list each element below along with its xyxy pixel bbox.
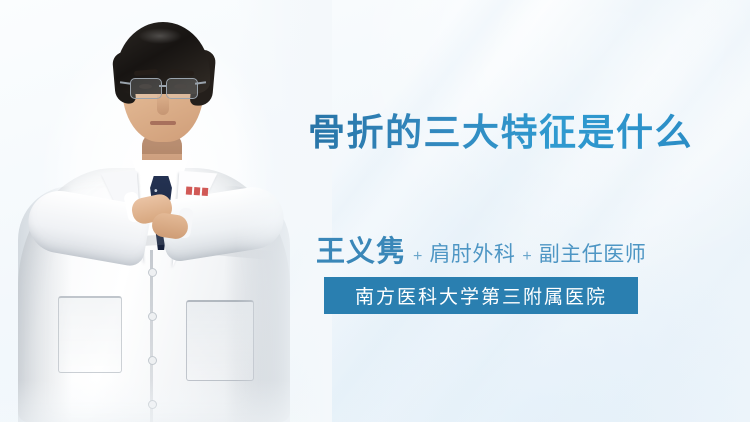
eyeglasses-lens-right xyxy=(166,78,198,99)
coat-button xyxy=(148,312,157,321)
doctor-portrait-photo xyxy=(0,0,320,422)
hair-highlight xyxy=(138,28,182,44)
eyeglasses-bridge xyxy=(159,85,167,87)
hospital-name: 南方医科大学第三附属医院 xyxy=(355,282,607,309)
portrait-fade-bottom xyxy=(0,380,320,422)
doctor-title-rank: 副主任医师 xyxy=(539,238,647,268)
doctor-credentials-line: 王义隽 + 肩肘外科 + 副主任医师 xyxy=(316,228,646,270)
coat-button xyxy=(148,268,157,277)
coat-pocket-left xyxy=(58,296,122,373)
mouth xyxy=(150,121,176,125)
doctor-name: 王义隽 xyxy=(316,228,406,270)
banner-text-block: 骨折的三大特征是什么 王义隽 + 肩肘外科 + 副主任医师 南方医科大学第三附属… xyxy=(300,0,750,422)
hospital-badge: 南方医科大学第三附属医院 xyxy=(324,277,638,314)
coat-button xyxy=(148,356,157,365)
doctor-department: 肩肘外科 xyxy=(429,238,515,268)
nose xyxy=(157,93,169,115)
separator-plus-2: + xyxy=(522,248,531,266)
doctor-video-banner: 骨折的三大特征是什么 王义隽 + 肩肘外科 + 副主任医师 南方医科大学第三附属… xyxy=(0,0,750,422)
page-title: 骨折的三大特征是什么 xyxy=(308,110,708,156)
separator-plus-1: + xyxy=(413,248,422,266)
